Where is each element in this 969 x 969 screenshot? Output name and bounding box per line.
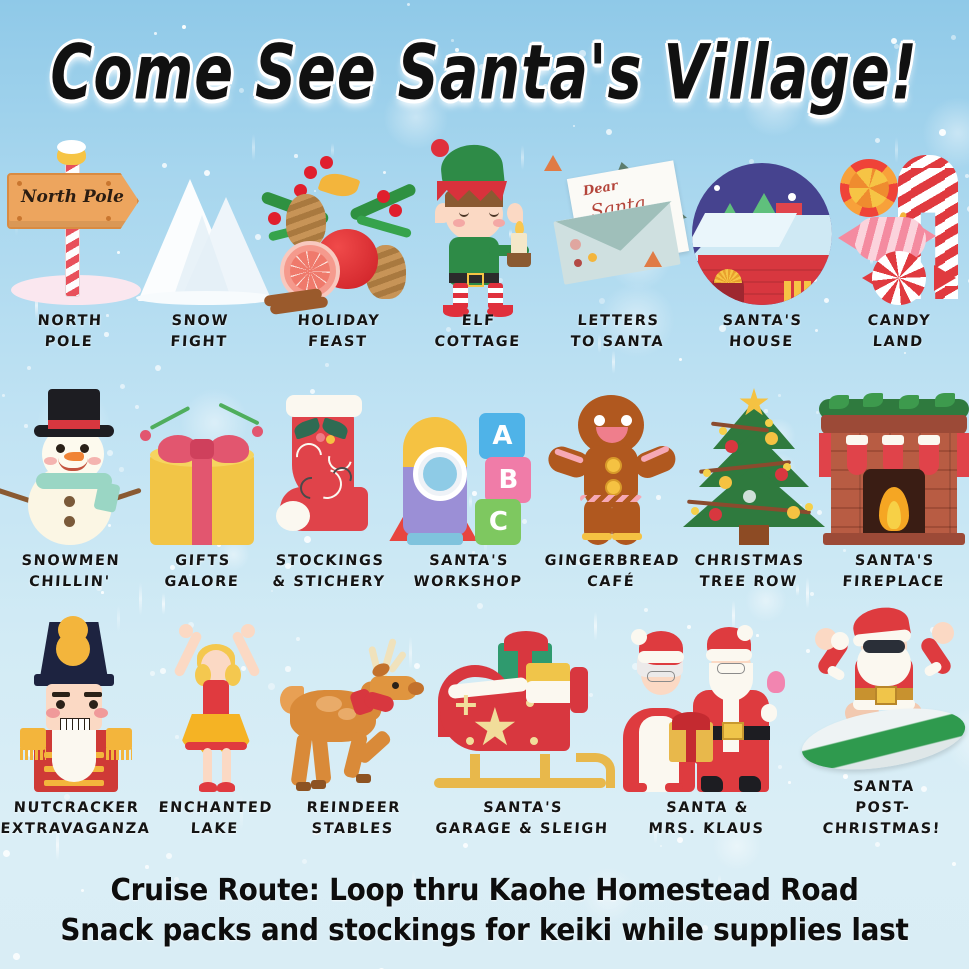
gift-box-icon	[140, 400, 265, 545]
village-item-fireplace[interactable]: SANTA'S FIREPLACE	[819, 385, 969, 593]
poster-canvas: Come See Santa's Village! North Pole NOR…	[0, 0, 969, 969]
surfing-santa-icon	[801, 606, 966, 771]
letter-envelope-icon: Dear Santa.	[544, 155, 692, 305]
village-item-label: SANTA'S FIREPLACE	[842, 551, 947, 593]
holiday-feast-icon	[264, 150, 412, 305]
village-item-label: NORTH POLE	[36, 311, 103, 353]
village-row-1: North Pole NORTH POLE SNOW FIGHT	[0, 148, 969, 353]
village-item-label: CHRISTMAS TREE ROW	[693, 551, 805, 593]
footer-note: Cruise Route: Loop thru Kaohe Homestead …	[0, 871, 969, 951]
fireplace-icon	[819, 395, 969, 545]
snowman-icon	[0, 390, 140, 545]
reindeer-icon	[280, 642, 428, 792]
village-row-2: SNOWMEN CHILLIN' GIFTS GALORE	[0, 388, 969, 593]
village-item-santa-and-mrs-klaus[interactable]: SANTA & MRS. KLAUS	[617, 620, 797, 840]
village-item-label: STOCKINGS & STICHERY	[272, 551, 387, 593]
village-item-snowmen[interactable]: SNOWMEN CHILLIN'	[0, 385, 140, 593]
village-item-sleigh[interactable]: SANTA'S GARAGE & SLEIGH	[428, 620, 618, 840]
village-row-3: NUTCRACKER EXTRAVAGANZA ENCHANTED LAKE	[0, 625, 969, 840]
village-item-santas-house[interactable]: SANTA'S HOUSE	[692, 137, 832, 353]
village-item-holiday-feast[interactable]: HOLIDAY FEAST	[264, 137, 412, 353]
village-item-label: SANTA'S GARAGE & SLEIGH	[435, 798, 610, 840]
village-item-label: SNOWMEN CHILLIN'	[20, 551, 121, 593]
candy-icon	[832, 155, 966, 305]
village-item-nutcracker[interactable]: NUTCRACKER EXTRAVAGANZA	[0, 620, 152, 840]
ballerina-icon	[161, 624, 271, 792]
village-item-post-christmas[interactable]: SANTA POST-CHRISTMAS!	[797, 599, 969, 840]
stocking-icon	[274, 395, 384, 545]
village-item-workshop[interactable]: A B C SANTA'S WORKSHOP	[393, 385, 543, 593]
village-item-label: CANDY LAND	[866, 311, 932, 353]
village-item-label: SANTA'S WORKSHOP	[413, 551, 524, 593]
village-item-label: SANTA & MRS. KLAUS	[648, 798, 766, 840]
village-item-label: ENCHANTED LAKE	[157, 798, 274, 840]
north-pole-sign-icon: North Pole	[3, 145, 136, 305]
village-item-label: SNOW FIGHT	[170, 311, 230, 353]
village-item-letters-to-santa[interactable]: Dear Santa. LETTERS TO SANTA	[544, 137, 692, 353]
toy-block: C	[475, 499, 521, 545]
page-title: Come See Santa's Village!	[51, 28, 918, 116]
nutcracker-icon	[16, 622, 136, 792]
village-item-gifts[interactable]: GIFTS GALORE	[140, 385, 265, 593]
village-item-north-pole[interactable]: North Pole NORTH POLE	[3, 137, 136, 353]
village-item-label: SANTA POST-CHRISTMAS!	[796, 777, 969, 840]
village-item-enchanted-lake[interactable]: ENCHANTED LAKE	[152, 620, 280, 840]
santa-and-mrs-claus-icon	[617, 627, 797, 792]
footer-line-1: Cruise Route: Loop thru Kaohe Homestead …	[34, 871, 935, 911]
elf-icon	[419, 137, 537, 305]
village-item-label: ELF COTTAGE	[434, 311, 522, 353]
village-item-reindeer[interactable]: REINDEER STABLES	[280, 620, 428, 840]
sleigh-icon	[430, 637, 615, 792]
toy-block: A	[479, 413, 525, 459]
village-item-label: REINDEER STABLES	[305, 798, 402, 840]
sign-text: North Pole	[21, 187, 124, 207]
village-item-label: LETTERS TO SANTA	[570, 311, 666, 353]
village-item-label: GINGERBREAD CAFÉ	[542, 551, 680, 593]
village-item-snow-fight[interactable]: SNOW FIGHT	[136, 137, 264, 353]
toy-rocket-icon: A B C	[393, 395, 543, 545]
village-item-elf-cottage[interactable]: ELF COTTAGE	[412, 137, 544, 353]
village-item-gingerbread[interactable]: GINGERBREAD CAFÉ	[543, 385, 679, 593]
village-item-stockings[interactable]: STOCKINGS & STICHERY	[265, 385, 393, 593]
village-item-label: GIFTS GALORE	[164, 551, 241, 593]
village-item-tree-row[interactable]: CHRISTMAS TREE ROW	[679, 385, 819, 593]
village-item-label: HOLIDAY FEAST	[296, 311, 381, 353]
poster-title-area: Come See Santa's Village!	[0, 38, 969, 107]
snow-mountain-icon	[136, 155, 264, 305]
christmas-tree-icon	[679, 390, 819, 545]
village-item-label: NUTCRACKER EXTRAVAGANZA	[0, 798, 152, 840]
village-item-candy-land[interactable]: CANDY LAND	[832, 137, 966, 353]
footer-line-2: Snack packs and stockings for keiki whil…	[34, 911, 935, 951]
toy-block: B	[485, 457, 531, 503]
village-item-label: SANTA'S HOUSE	[721, 311, 803, 353]
santa-house-icon	[692, 163, 832, 305]
gingerbread-man-icon	[546, 395, 676, 545]
